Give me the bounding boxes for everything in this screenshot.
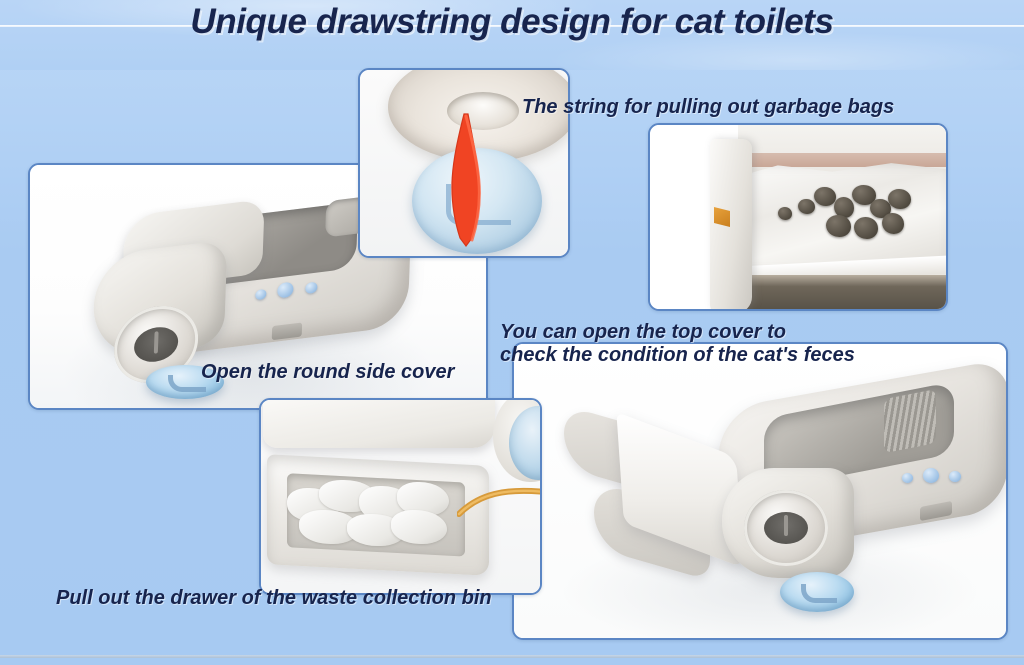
clump xyxy=(798,199,815,214)
button-led-right xyxy=(949,471,961,482)
caption-side-cover: Open the round side cover xyxy=(201,361,454,384)
footer-divider-line xyxy=(0,655,1024,658)
clump xyxy=(854,217,878,239)
waste-drawer-photo xyxy=(261,400,540,593)
panel-drawer xyxy=(259,398,542,595)
clump xyxy=(826,215,851,237)
panel-product-open xyxy=(512,342,1008,640)
clump xyxy=(888,189,911,209)
opened-top-cover xyxy=(710,139,752,309)
clump xyxy=(882,213,904,234)
waste-clumps xyxy=(796,183,926,245)
interior-rim xyxy=(738,153,946,167)
clump xyxy=(814,187,836,206)
orange-drawstring-cord xyxy=(457,484,540,518)
button-led-left xyxy=(255,289,266,300)
rake-comb xyxy=(884,389,936,453)
plastic-bags-pile xyxy=(285,480,457,552)
control-buttons xyxy=(902,468,978,484)
clump xyxy=(778,207,792,220)
bag xyxy=(391,510,447,544)
button-led-left xyxy=(902,473,913,483)
infographic-canvas: Unique drawstring design for cat toilets xyxy=(0,0,1024,665)
button-power xyxy=(923,468,939,483)
round-side-port xyxy=(744,490,828,566)
detached-round-lid xyxy=(780,572,854,612)
unit-upper-body xyxy=(263,400,495,448)
caption-top-cover: You can open the top cover to check the … xyxy=(500,321,855,367)
panel-feces xyxy=(648,123,948,311)
feces-condition-photo xyxy=(650,125,946,309)
button-led-right xyxy=(305,282,317,295)
litter-bed xyxy=(738,275,946,309)
page-title: Unique drawstring design for cat toilets xyxy=(0,2,1024,42)
unit-drum xyxy=(92,240,228,361)
product-open-photo xyxy=(514,344,1006,638)
litter-box-render-open xyxy=(568,358,998,588)
caption-drawer: Pull out the drawer of the waste collect… xyxy=(56,587,492,610)
caption-drawstring: The string for pulling out garbage bags xyxy=(522,96,894,119)
button-power xyxy=(277,281,294,298)
port-hole xyxy=(134,325,179,365)
port-hole xyxy=(764,512,808,544)
